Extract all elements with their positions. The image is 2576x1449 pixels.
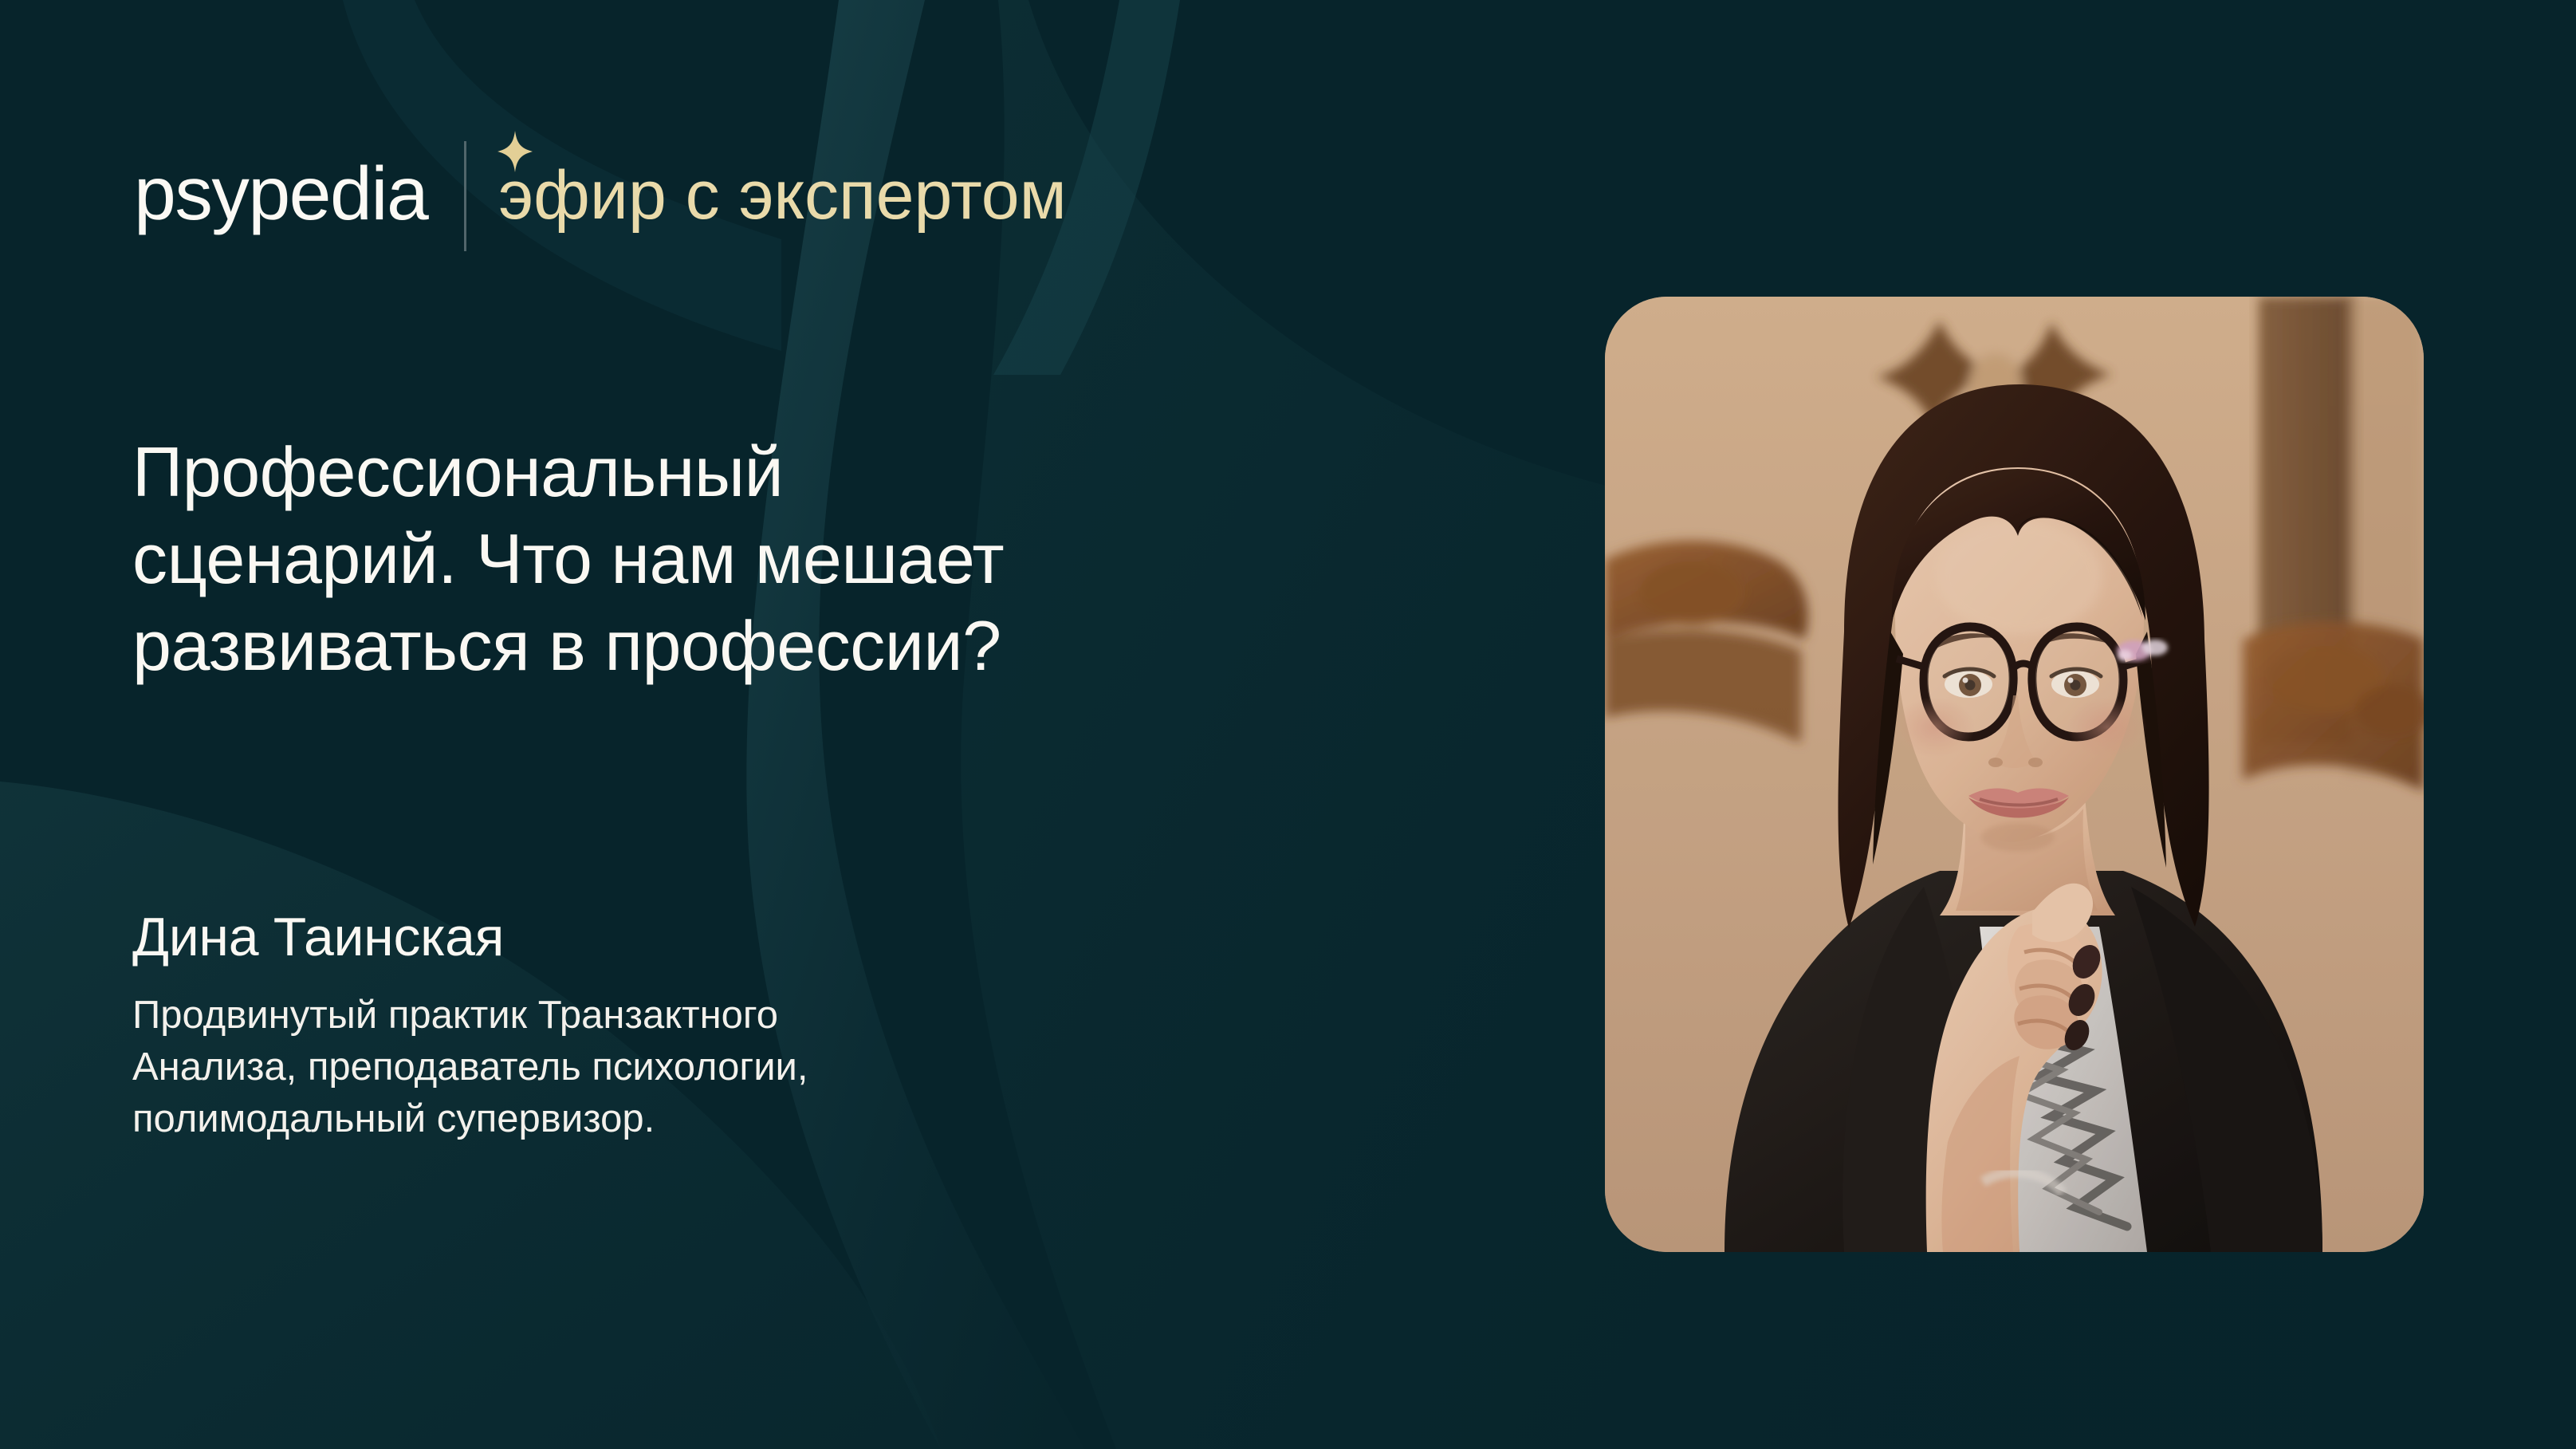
webinar-announcement-slide: psypedia эфир с экспертом Профессиональн… (0, 0, 2576, 1449)
logo[interactable]: psypedia (134, 156, 427, 232)
speaker-bio: Продвинутый практик Транзактного Анализа… (132, 990, 1440, 1144)
headline-line-3: развиваться в профессии? (132, 602, 1536, 689)
speaker-portrait (1605, 297, 2424, 1252)
header-divider (464, 141, 466, 251)
headline-line-2: сценарий. Что нам мешает (132, 515, 1536, 602)
speaker-bio-line-1: Продвинутый практик Транзактного (132, 990, 1440, 1041)
speaker-bio-line-3: полимодальный супервизор. (132, 1093, 1440, 1145)
page-title: Профессиональный сценарий. Что нам мешае… (132, 428, 1536, 689)
speaker-bio-line-2: Анализа, преподаватель психологии, (132, 1041, 1440, 1093)
logo-wordmark: psypedia (134, 156, 427, 232)
speaker-block: Дина Таинская Продвинутый практик Транза… (132, 909, 1440, 1144)
headline-line-1: Профессиональный (132, 428, 1536, 515)
sparkle-icon (498, 131, 533, 172)
brand-header: psypedia эфир с экспертом (134, 134, 1067, 254)
speaker-name: Дина Таинская (132, 909, 1440, 966)
header-tagline: эфир с экспертом (498, 158, 1066, 230)
